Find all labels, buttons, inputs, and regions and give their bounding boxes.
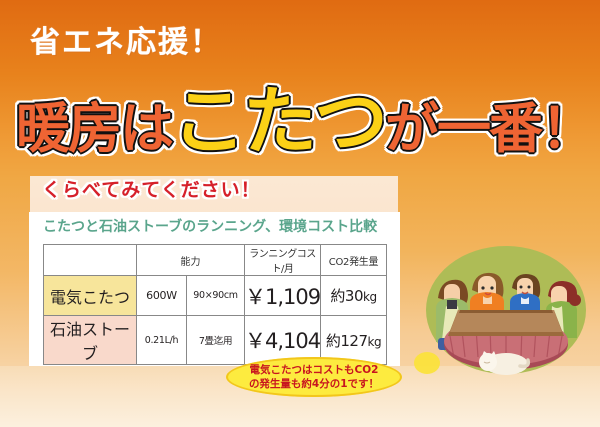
row-name-stove: 石油ストーブ [44, 316, 137, 365]
row-cost-kotatsu: ￥1,109 [245, 276, 321, 316]
headline-part-3: が一番！ [385, 91, 593, 167]
header-running-cost: ランニングコスト/月 [245, 245, 321, 276]
row-co2-kotatsu: 約30kg [321, 276, 387, 316]
header-capacity: 能力 [137, 245, 245, 276]
kicker-text: 省エネ応援！ [30, 28, 222, 58]
comparison-card: こたつと石油ストーブのランニング、環境コスト比較 能力 ランニングコスト/月 C… [29, 212, 400, 366]
main-headline: 暖房はこたつが一番！ [16, 84, 586, 160]
illustration-svg [420, 240, 592, 380]
headline-part-1: 暖房は [16, 91, 172, 167]
compare-label: くらべてみてください！ [42, 181, 261, 200]
comparison-table: 能力 ランニングコスト/月 CO2発生量 電気こたつ 600W 90×90cm … [43, 244, 387, 365]
family-kotatsu-illustration [420, 240, 592, 380]
headline-part-2: こたつ [172, 84, 385, 160]
row-co2-unit-stove: kg [368, 335, 382, 349]
poster-root: 省エネ応援！ 暖房はこたつが一番！ くらべてみてください！ こたつと石油ストーブ… [0, 0, 600, 427]
header-blank [44, 245, 137, 276]
corner-accent-dot [414, 352, 440, 374]
callout-bubble: 電気こたつはコストもCO2 の発生量も約4分の1です！ [226, 357, 402, 397]
row-spec-size-kotatsu: 90×90cm [187, 276, 245, 316]
row-co2-value-stove: 約127 [326, 332, 368, 350]
card-title: こたつと石油ストーブのランニング、環境コスト比較 [43, 220, 377, 234]
row-co2-unit-kotatsu: kg [363, 290, 377, 304]
row-spec-size-stove: 7畳迄用 [187, 316, 245, 365]
table-header-row: 能力 ランニングコスト/月 CO2発生量 [44, 245, 387, 276]
table-row: 電気こたつ 600W 90×90cm ￥1,109 約30kg [44, 276, 387, 316]
kotatsu-tabletop [448, 310, 564, 336]
row-spec-power-stove: 0.21L/h [137, 316, 187, 365]
row-name-kotatsu: 電気こたつ [44, 276, 137, 316]
row-spec-power-kotatsu: 600W [137, 276, 187, 316]
row-co2-value-kotatsu: 約30 [330, 287, 363, 305]
header-co2: CO2発生量 [321, 245, 387, 276]
callout-text: 電気こたつはコストもCO2 の発生量も約4分の1です！ [249, 363, 379, 391]
